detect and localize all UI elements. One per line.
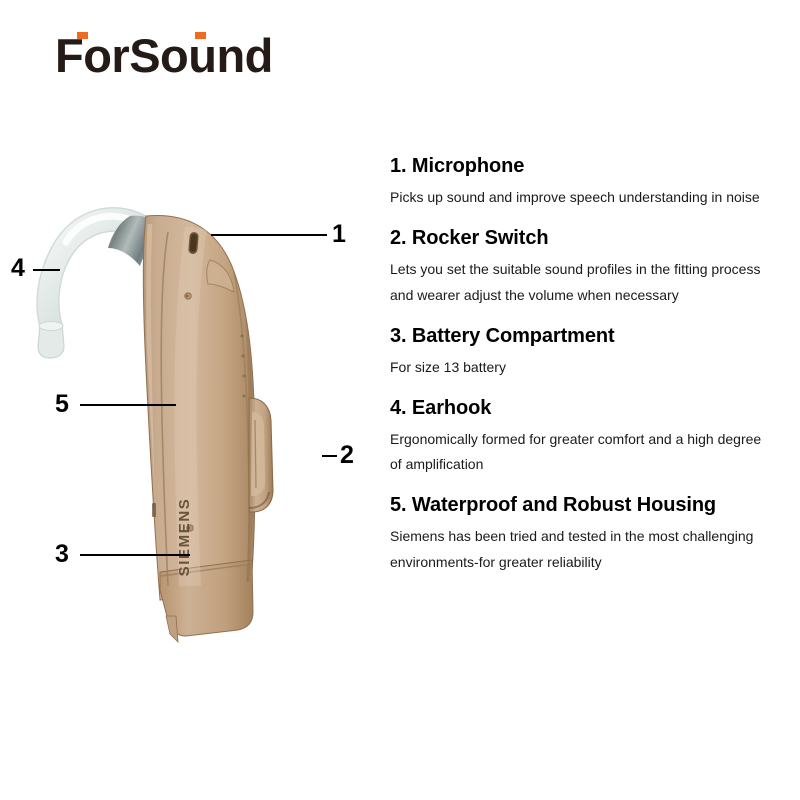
callout-3-number: 3 <box>55 542 69 567</box>
callout-3-leader-line <box>80 554 190 556</box>
feature-desc-rocker-switch-line-2: and wearer adjust the volume when necess… <box>390 283 785 309</box>
callout-2-number: 2 <box>340 443 354 468</box>
callout-4-leader-line <box>33 269 60 271</box>
feature-desc-rocker-switch-line-1: Lets you set the suitable sound profiles… <box>390 257 785 283</box>
logo-accent-mark-s-icon <box>195 32 206 39</box>
feature-heading-earhook: 4. Earhook <box>390 397 785 420</box>
feature-item-earhook: 4. Earhook Ergonomically formed for grea… <box>390 397 785 479</box>
feature-heading-rocker-switch: 2. Rocker Switch <box>390 227 785 250</box>
feature-heading-microphone: 1. Microphone <box>390 155 785 178</box>
callout-4-number: 4 <box>11 256 25 281</box>
callout-2-leader-line <box>322 455 337 457</box>
feature-desc-earhook-line-2: of amplification <box>390 452 785 478</box>
rocker-switch-part <box>249 398 273 512</box>
feature-desc-microphone-line-1: Picks up sound and improve speech unders… <box>390 185 785 211</box>
brand-logo: ForSound <box>55 31 273 79</box>
siemens-marking: SIEMENS <box>176 498 193 577</box>
feature-item-housing: 5. Waterproof and Robust Housing Siemens… <box>390 494 785 576</box>
housing-part <box>143 215 255 642</box>
feature-item-microphone: 1. Microphone Picks up sound and improve… <box>390 155 785 211</box>
callout-1-leader-line <box>211 234 327 236</box>
feature-heading-housing: 5. Waterproof and Robust Housing <box>390 494 785 517</box>
feature-desc-housing-line-1: Siemens has been tried and tested in the… <box>390 524 785 550</box>
feature-heading-battery-compartment: 3. Battery Compartment <box>390 325 785 348</box>
callout-5-number: 5 <box>55 392 69 417</box>
feature-desc-housing-line-2: environments-for greater reliability <box>390 550 785 576</box>
feature-desc-battery-compartment-line-1: For size 13 battery <box>390 355 785 381</box>
feature-item-battery-compartment: 3. Battery Compartment For size 13 batte… <box>390 325 785 381</box>
feature-list: 1. Microphone Picks up sound and improve… <box>390 155 785 592</box>
logo-accent-mark-f-icon <box>77 32 88 39</box>
callout-5-leader-line <box>80 404 176 406</box>
feature-item-rocker-switch: 2. Rocker Switch Lets you set the suitab… <box>390 227 785 309</box>
callout-1-number: 1 <box>332 222 346 247</box>
feature-desc-earhook-line-1: Ergonomically formed for greater comfort… <box>390 427 785 453</box>
